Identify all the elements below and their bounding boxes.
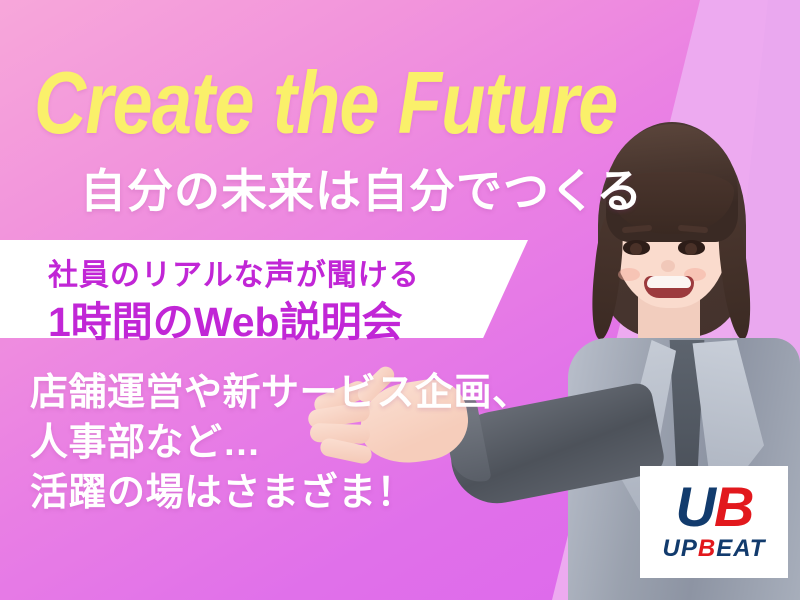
teeth <box>647 276 691 288</box>
logo-wordmark: UPBEAT <box>663 535 766 563</box>
body-line-3: 活躍の場はさまざま！ <box>30 468 531 518</box>
callout-line-2: 1時間のWeb説明会 <box>48 288 403 348</box>
logo-letter-u: U <box>676 475 714 538</box>
subheadline-japanese: 自分の未来は自分でつくる <box>80 155 643 221</box>
upbeat-logo: UB UPBEAT <box>640 466 788 578</box>
headline-create-the-future: Create the Future <box>34 52 617 154</box>
pupil-right <box>685 243 697 255</box>
logo-word-b: B <box>698 535 716 562</box>
logo-word-up: UP <box>663 535 698 562</box>
logo-word-eat: EAT <box>716 535 765 562</box>
recruitment-banner: Create the Future 自分の未来は自分でつくる 社員のリアルな声が… <box>0 0 800 600</box>
logo-letter-b: B <box>714 475 752 538</box>
pupil-left <box>630 243 642 255</box>
body-line-2: 人事部など… <box>30 418 531 468</box>
cheek-left <box>618 268 640 281</box>
body-copy: 店舗運営や新サービス企画、 人事部など… 活躍の場はさまざま！ <box>30 368 531 518</box>
nose <box>661 260 675 272</box>
logo-monogram: UB <box>676 481 753 533</box>
body-line-1: 店舗運営や新サービス企画、 <box>30 368 531 418</box>
mouth-smiling <box>644 276 694 298</box>
